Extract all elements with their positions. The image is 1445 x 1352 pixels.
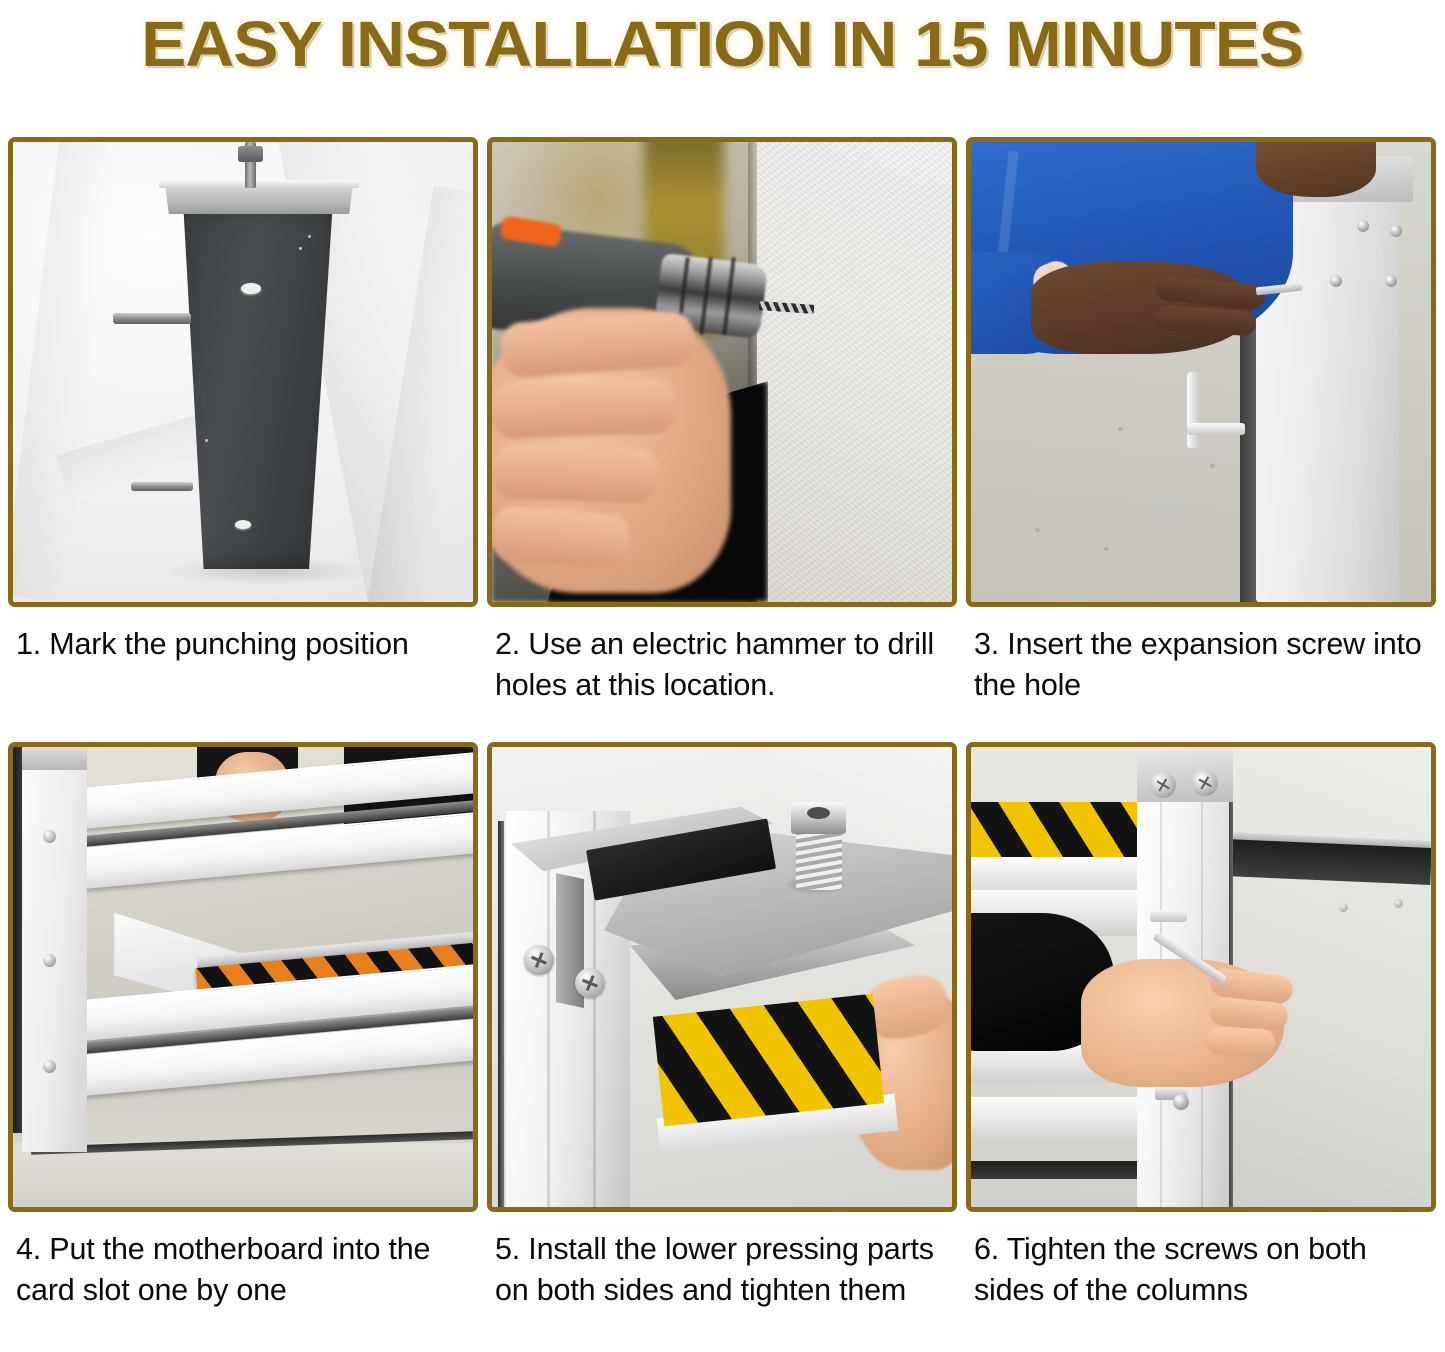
white-column <box>22 747 86 1152</box>
finger <box>1205 1026 1275 1056</box>
speck <box>299 247 302 250</box>
side-bolt <box>113 313 191 324</box>
cloth-fold-icon <box>13 142 149 602</box>
second-hand <box>1256 142 1376 197</box>
floor-speck <box>1118 427 1123 431</box>
step-6-caption: 6. Tighten the screws on both sides of t… <box>974 1229 1430 1311</box>
step-2-caption: 2. Use an electric hammer to drill holes… <box>495 624 951 706</box>
step-6-photo-cell <box>966 742 1436 1212</box>
step-6-caption-cell: 6. Tighten the screws on both sides of t… <box>966 1212 1436 1347</box>
floor-speck <box>1210 464 1215 468</box>
column-top-plate <box>22 747 86 770</box>
phillips-screw-icon <box>1192 770 1218 796</box>
step-5-frame <box>487 742 957 1212</box>
step-5-photo <box>492 747 952 1207</box>
step-5-caption-cell: 5. Install the lower pressing parts on b… <box>487 1212 957 1347</box>
installation-infographic: EASY INSTALLATION IN 15 MINUTES <box>0 0 1445 1352</box>
column-top-plate <box>1137 747 1234 802</box>
step-3-photo-cell <box>966 137 1436 607</box>
step-4-caption: 4. Put the motherboard into the card slo… <box>16 1229 472 1311</box>
post-top-cap <box>161 184 357 214</box>
step-2-caption-cell: 2. Use an electric hammer to drill holes… <box>487 607 957 742</box>
nut-icon <box>238 146 263 162</box>
title-bar: EASY INSTALLATION IN 15 MINUTES <box>0 0 1445 88</box>
step-2-photo <box>492 142 952 602</box>
hazard-stripe-board <box>652 993 883 1126</box>
step-1-frame <box>8 137 478 607</box>
board-dark-edge <box>971 1161 1141 1179</box>
step-6-photo <box>971 747 1431 1207</box>
hazard-stripe-board <box>971 802 1141 857</box>
hex-key-tip <box>1150 910 1187 922</box>
column-screw <box>43 954 56 967</box>
column-dark-edge <box>498 821 504 1207</box>
column-ridge <box>547 811 550 1207</box>
barrier-board <box>971 857 1141 889</box>
step-4-photo-cell <box>8 742 478 1212</box>
hex-key-foot <box>1187 423 1245 435</box>
step-1-caption-cell: 1. Mark the punching position <box>8 607 478 742</box>
post-cap-rim <box>159 180 359 188</box>
speck <box>308 235 311 238</box>
marking-hole <box>241 283 261 294</box>
step-4-caption-cell: 4. Put the motherboard into the card slo… <box>8 1212 478 1347</box>
step-2-photo-cell <box>487 137 957 607</box>
column-screw <box>43 830 56 843</box>
floor-speck <box>1104 547 1109 551</box>
textured-wall <box>757 142 953 602</box>
column-screw <box>43 1060 56 1073</box>
step-4-frame <box>8 742 478 1212</box>
marking-hole <box>235 520 251 529</box>
barrier-board <box>971 1097 1141 1143</box>
step-1-photo-cell <box>8 137 478 607</box>
step-1-caption: 1. Mark the punching position <box>16 624 472 665</box>
step-3-frame <box>966 137 1436 607</box>
step-5-photo-cell <box>487 742 957 1212</box>
step-1-photo <box>13 142 473 602</box>
phillips-screw-icon <box>524 945 554 975</box>
hex-key-icon <box>1187 372 1200 448</box>
side-bolt <box>131 482 193 491</box>
step-2-frame <box>487 137 957 607</box>
step-5-caption: 5. Install the lower pressing parts on b… <box>495 1229 951 1311</box>
forearm <box>1031 262 1252 354</box>
phillips-screw-icon <box>575 968 605 998</box>
bolt-socket-hole <box>807 807 830 819</box>
step-4-photo <box>13 747 473 1207</box>
page-title: EASY INSTALLATION IN 15 MINUTES <box>142 10 1304 78</box>
expansion-screw <box>1390 225 1402 237</box>
steps-grid: 1. Mark the punching position 2. Use an … <box>8 137 1437 1347</box>
floor-speck <box>1035 528 1040 532</box>
step-6-frame <box>966 742 1436 1212</box>
step-3-caption-cell: 3. Insert the expansion screw into the h… <box>966 607 1436 742</box>
column-post <box>173 204 343 569</box>
finger <box>492 443 659 504</box>
speck <box>205 439 208 442</box>
step-3-caption: 3. Insert the expansion screw into the h… <box>974 624 1430 706</box>
finger <box>492 378 677 440</box>
step-3-photo <box>971 142 1431 602</box>
